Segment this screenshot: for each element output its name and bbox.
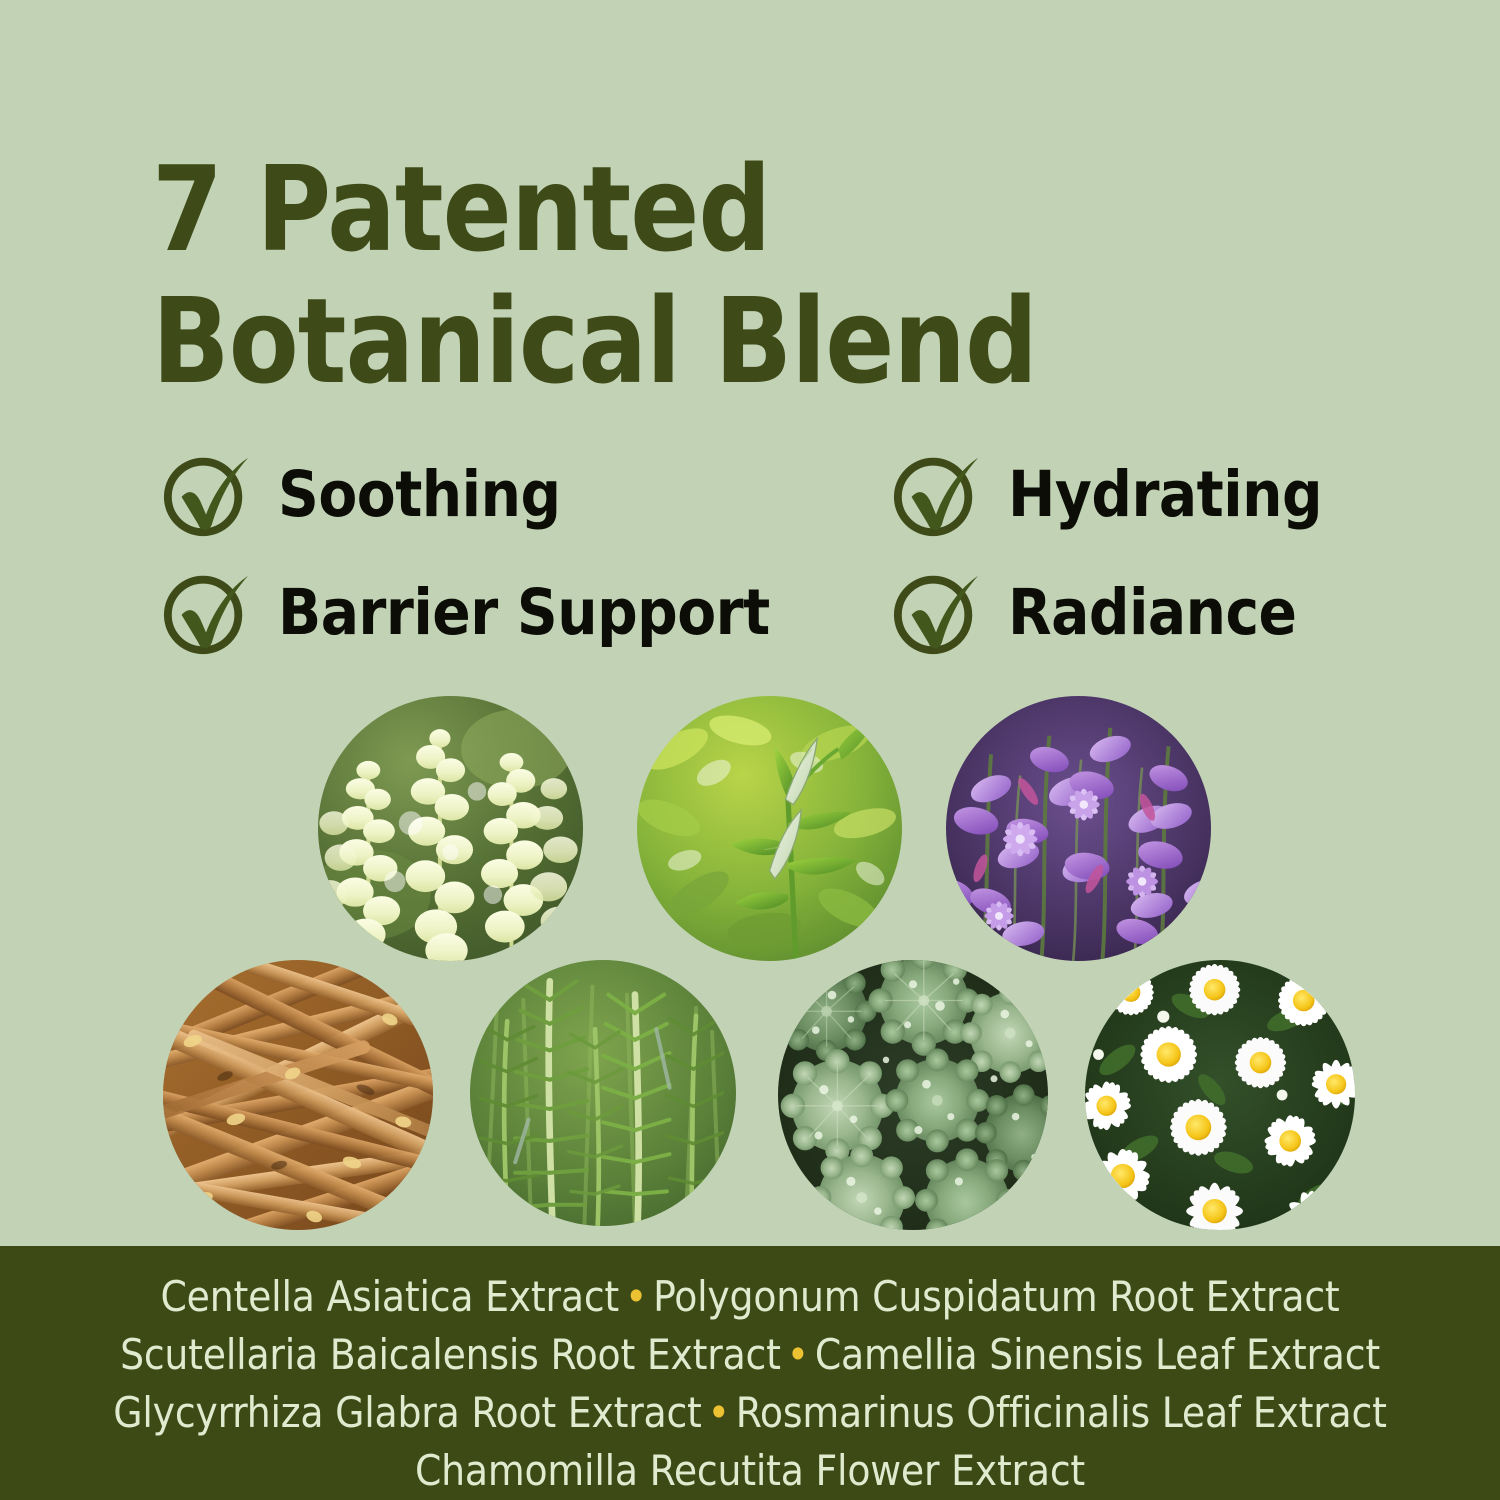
- botanical-circle-polygonum-cuspidatum: [318, 696, 583, 961]
- ingredient-name: Camellia Sinensis Leaf Extract: [815, 1330, 1380, 1379]
- ingredient-name: Chamomilla Recutita Flower Extract: [415, 1446, 1085, 1495]
- scutellaria-baicalensis-image: [946, 696, 1211, 961]
- camellia-sinensis-image: [637, 696, 902, 961]
- bullet-separator-icon: •: [619, 1272, 653, 1321]
- ingredient-line: Centella Asiatica Extract•Polygonum Cusp…: [160, 1268, 1339, 1326]
- chamomilla-recutita-image: [1085, 960, 1355, 1230]
- botanical-circle-glycyrrhiza-glabra: [163, 960, 433, 1230]
- bullet-separator-icon: •: [781, 1330, 815, 1379]
- ingredient-line: Glycyrrhiza Glabra Root Extract•Rosmarin…: [113, 1384, 1386, 1442]
- botanical-circle-rosmarinus-officinalis: [470, 960, 736, 1226]
- botanical-circle-camellia-sinensis: [637, 696, 902, 961]
- ingredient-name: Polygonum Cuspidatum Root Extract: [653, 1272, 1339, 1321]
- polygonum-cuspidatum-image: [318, 696, 583, 961]
- ingredient-line: Scutellaria Baicalensis Root Extract•Cam…: [120, 1326, 1380, 1384]
- centella-asiatica-image: [778, 960, 1048, 1230]
- botanical-circle-scutellaria-baicalensis: [946, 696, 1211, 961]
- rosmarinus-officinalis-image: [470, 960, 736, 1226]
- bullet-separator-icon: •: [702, 1388, 736, 1437]
- botanical-circle-chamomilla-recutita: [1085, 960, 1355, 1230]
- ingredient-line: Chamomilla Recutita Flower Extract: [415, 1442, 1085, 1500]
- glycyrrhiza-glabra-image: [163, 960, 433, 1230]
- infographic-root: 7 Patented Botanical Blend Soothing Barr…: [0, 0, 1500, 1500]
- ingredient-name: Centella Asiatica Extract: [160, 1272, 619, 1321]
- botanical-circle-centella-asiatica: [778, 960, 1048, 1230]
- ingredient-name: Rosmarinus Officinalis Leaf Extract: [736, 1388, 1387, 1437]
- ingredient-name: Scutellaria Baicalensis Root Extract: [120, 1330, 781, 1379]
- ingredient-name: Glycyrrhiza Glabra Root Extract: [113, 1388, 701, 1437]
- botanical-image-grid: [0, 0, 1500, 1250]
- ingredients-footer: Centella Asiatica Extract•Polygonum Cusp…: [0, 1246, 1500, 1500]
